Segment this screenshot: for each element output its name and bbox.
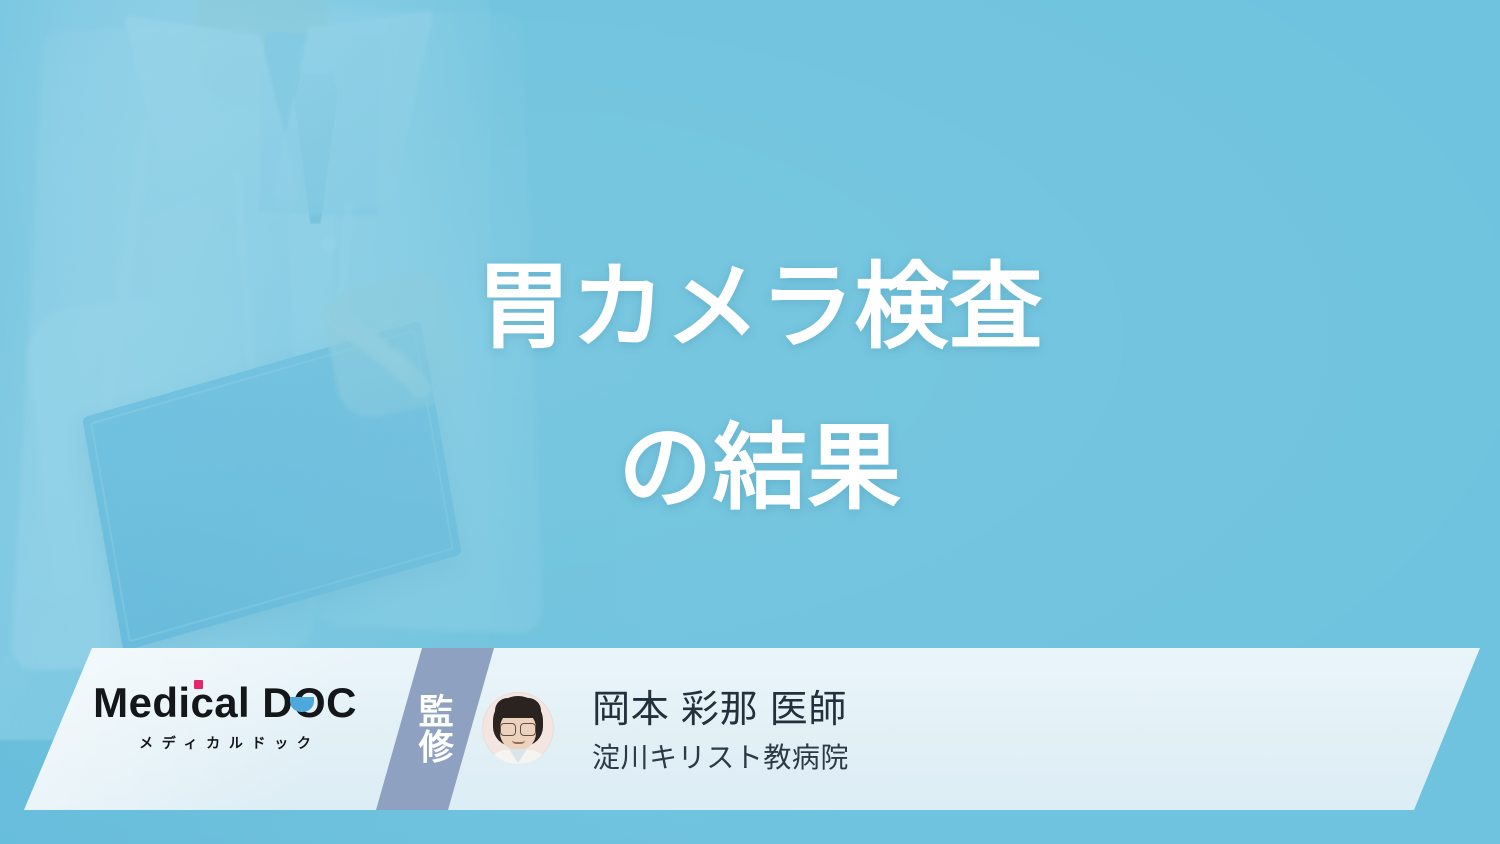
page-title: 胃カメラ検査 の結果 [440, 236, 1080, 540]
page-title-line-2: の結果 [440, 397, 1080, 540]
page-title-line-1: 胃カメラ検査 [440, 236, 1080, 379]
supervisor-badge-label: 監修 [413, 693, 452, 764]
supervisor-badge: 監修 [376, 648, 494, 810]
doctor-hospital: 淀川キリスト教病院 [592, 741, 849, 775]
logo-kana-subtitle: メディカルドック [80, 733, 370, 753]
avatar-mouth [512, 740, 525, 744]
slide-canvas: 胃カメラ検査 の結果 Medical DOC メディカルドック 監修 [0, 0, 1500, 844]
doctor-info: 岡本 彩那 医師 淀川キリスト教病院 [592, 688, 849, 774]
doctor-name: 岡本 彩那 医師 [592, 688, 849, 733]
glasses-icon [500, 723, 536, 734]
avatar [482, 692, 554, 764]
avatar-fringe [495, 698, 541, 718]
logo-wordmark: Medical DOC [93, 682, 357, 724]
credit-bar: Medical DOC メディカルドック 監修 岡本 彩那 医師 淀川キリスト教… [24, 648, 1480, 810]
logo-wordmark-text: Medical DOC [93, 679, 357, 726]
logo-i-dot-icon [194, 680, 203, 689]
medical-doc-logo[interactable]: Medical DOC メディカルドック [80, 682, 370, 753]
